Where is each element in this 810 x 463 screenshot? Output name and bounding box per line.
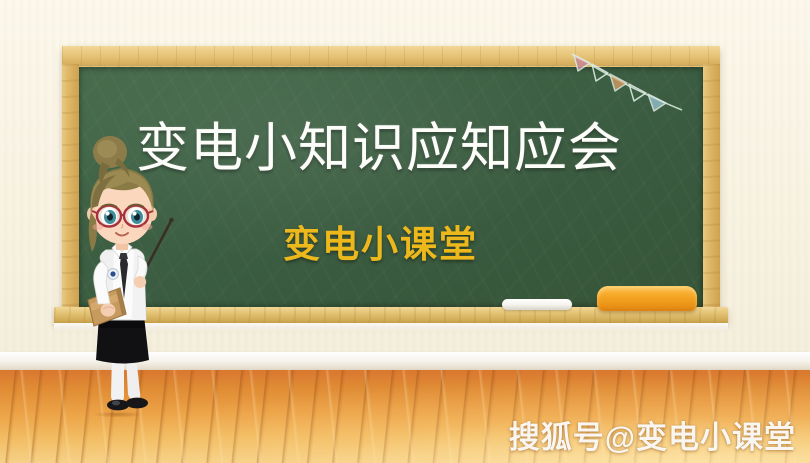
board-title: 变电小知识应知应会 bbox=[136, 122, 696, 176]
cartoon-teacher bbox=[58, 128, 184, 422]
teacher-floor-shadow bbox=[82, 410, 154, 419]
scene-root: 变电小知识应知应会 变电小课堂 bbox=[0, 0, 810, 463]
chalk-stick bbox=[502, 299, 572, 310]
board-eraser bbox=[597, 286, 697, 311]
blackboard-frame-right bbox=[703, 64, 720, 314]
board-subtitle: 变电小课堂 bbox=[283, 226, 703, 265]
watermark-text: 搜狐号@变电小课堂 bbox=[509, 412, 796, 457]
chalk-bunting-flags bbox=[570, 48, 690, 126]
